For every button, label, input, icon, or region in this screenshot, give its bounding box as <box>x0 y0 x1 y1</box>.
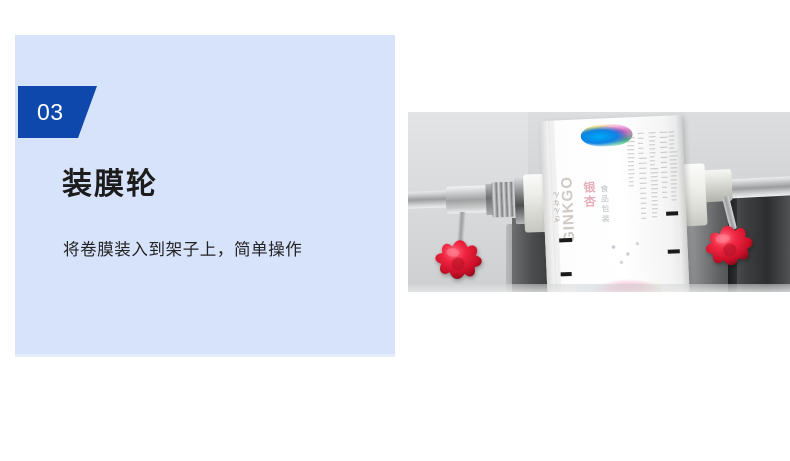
label-fineprint-line <box>652 200 658 201</box>
label-fineprint-line <box>629 177 634 178</box>
label-fineprint-line <box>662 177 668 178</box>
label-fineprint-line <box>639 168 646 169</box>
label-fineprint-line <box>660 132 668 133</box>
label-fineprint-line <box>671 191 676 192</box>
film-roll: GINKGO ぎんなん 银杏 食品包装 <box>540 115 690 292</box>
label-fineprint-line <box>627 141 635 142</box>
label-fineprint-line <box>628 161 634 162</box>
label-fineprint-line <box>641 203 647 204</box>
screenshot-canvas: 03 装膜轮 将卷膜装入到架子上，简单操作 <box>0 0 790 461</box>
label-fineprint-line <box>628 157 635 158</box>
label-fineprint-line <box>640 193 646 194</box>
label-fineprint-line <box>660 152 667 153</box>
label-fineprint-line <box>650 176 657 177</box>
photo-scene: GINKGO ぎんなん 银杏 食品包装 <box>408 112 790 292</box>
label-fineprint-line <box>662 182 668 183</box>
label-fineprint-line <box>671 187 677 188</box>
label-registration-tick <box>561 272 572 276</box>
label-fineprint-line <box>649 144 655 145</box>
page-title: 装膜轮 <box>62 168 158 201</box>
label-fineprint-line <box>641 213 646 214</box>
label-brand-japanese: ぎんなん <box>551 190 562 222</box>
label-fineprint-line <box>641 208 646 209</box>
label-fineprint-line <box>649 132 656 133</box>
label-fineprint-line <box>638 148 643 149</box>
step-info-panel: 03 装膜轮 将卷膜装入到架子上，简单操作 <box>15 35 395 357</box>
hologram-sticker <box>580 123 633 147</box>
label-fineprint-line <box>627 133 632 134</box>
label-fineprint-line <box>669 131 675 132</box>
label-fineprint-line <box>627 137 635 138</box>
label-fineprint-line <box>640 183 647 184</box>
label-fineprint-line <box>629 185 634 186</box>
label-fineprint-line <box>662 187 667 188</box>
label-fineprint-line <box>669 151 677 152</box>
label-fineprint-line <box>652 212 657 213</box>
label-fineprint-line <box>627 149 634 150</box>
label-fineprint-line <box>652 216 657 217</box>
label-fineprint-line <box>650 164 655 165</box>
label-registration-tick <box>666 211 678 216</box>
label-fineprint-line <box>629 181 634 182</box>
label-fineprint-line <box>672 199 677 200</box>
label-fineprint-line <box>651 196 657 197</box>
label-brand-chinese: 银杏 <box>581 181 599 210</box>
label-fineprint-line <box>661 172 667 173</box>
label-fineprint-line <box>628 173 634 174</box>
product-photo: GINKGO ぎんなん 银杏 食品包装 <box>408 112 790 292</box>
label-fineprint-line <box>650 160 655 161</box>
label-fineprint-line <box>649 140 655 141</box>
label-fineprint-line <box>660 142 667 143</box>
label-fineprint-line <box>639 163 647 164</box>
label-fineprint-line <box>661 162 668 163</box>
label-fineprint-line <box>638 133 644 134</box>
label-fineprint-line <box>652 204 658 205</box>
label-fineprint-line <box>670 155 678 156</box>
label-fineprint-line <box>670 171 677 172</box>
label-fineprint-line <box>650 168 658 169</box>
label-registration-tick <box>559 238 572 243</box>
photo-foreground-surface <box>408 284 790 292</box>
label-brand-chinese-sub: 食品包装 <box>599 184 612 224</box>
label-fineprint-line <box>650 172 658 173</box>
label-fineprint-line <box>639 158 647 159</box>
red-star-knob-right <box>698 220 762 282</box>
label-fineprint-line <box>650 156 655 157</box>
label-fineprint-line <box>649 148 655 149</box>
label-fineprint-line <box>639 173 646 174</box>
label-fineprint-line <box>651 192 658 193</box>
label-fineprint-line <box>649 152 655 153</box>
label-fineprint-line <box>671 179 677 180</box>
label-fineprint-line <box>662 197 667 198</box>
label-fineprint-line <box>638 153 643 154</box>
label-fineprint-line <box>671 183 677 184</box>
label-fineprint-line <box>661 157 668 158</box>
label-fineprint-line <box>627 153 634 154</box>
label-fineprint-line <box>640 188 646 189</box>
label-fineprint-line <box>638 143 643 144</box>
label-fineprint-line <box>670 167 677 168</box>
label-fineprint-line <box>641 218 646 219</box>
label-fineprint-line <box>627 145 634 146</box>
panel-bottom-sheen <box>15 354 395 357</box>
step-number-badge: 03 <box>18 86 97 138</box>
label-fineprint-line <box>660 147 667 148</box>
label-fineprint-line <box>638 138 644 139</box>
label-fineprint-line <box>660 137 668 138</box>
label-fineprint-line <box>640 178 647 179</box>
label-fineprint-line <box>669 135 675 136</box>
label-fineprint-line <box>628 165 634 166</box>
label-fineprint-line <box>628 169 634 170</box>
label-registration-tick <box>668 249 680 254</box>
label-fineprint-line <box>670 163 677 164</box>
label-fineprint-line <box>649 136 656 137</box>
label-fineprint-line <box>651 188 658 189</box>
label-fineprint-line <box>661 167 667 168</box>
label-dot-pattern <box>605 237 646 269</box>
label-fineprint-line <box>670 159 677 160</box>
label-fineprint-line <box>651 180 658 181</box>
label-fineprint-line <box>669 139 674 140</box>
label-fineprint-line <box>652 208 658 209</box>
label-fineprint-line <box>669 147 674 148</box>
label-fineprint-line <box>669 143 674 144</box>
step-number-label: 03 <box>37 101 64 124</box>
label-fineprint-line <box>640 198 646 199</box>
page-subtitle: 将卷膜装入到架子上，简单操作 <box>63 240 302 260</box>
label-fineprint-line <box>651 184 658 185</box>
label-fineprint-line <box>671 195 676 196</box>
label-fineprint-line <box>662 192 667 193</box>
label-fineprint-line <box>670 175 676 176</box>
